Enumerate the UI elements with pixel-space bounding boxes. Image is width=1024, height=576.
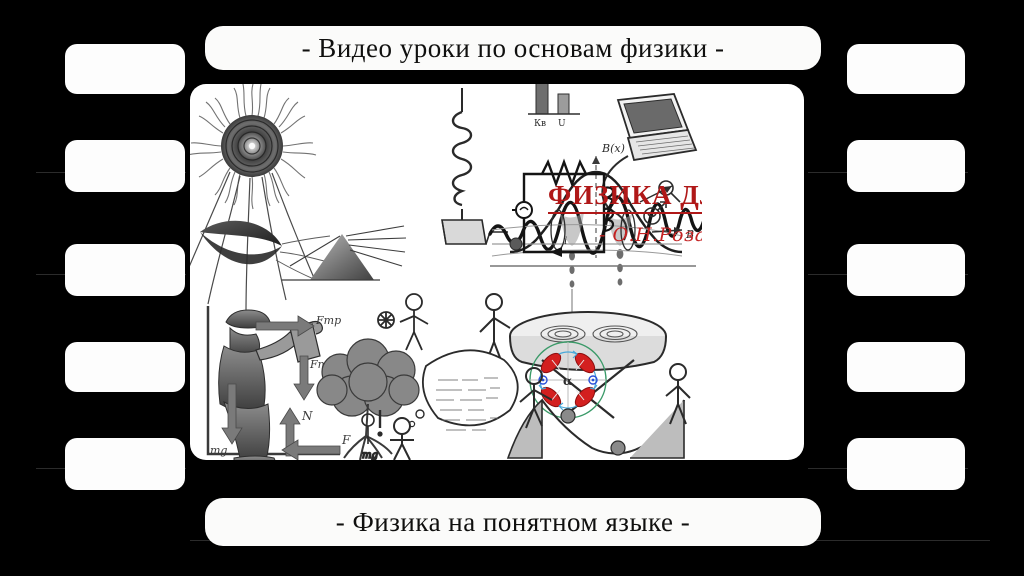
bottom-banner: - Физика на понятном языке - (205, 498, 821, 546)
poster-title: ФИЗИКА ДЛЯ ВСЕХ (548, 180, 702, 214)
label-orbital-center: α (563, 374, 572, 388)
film-sprocket-right-5 (847, 438, 965, 490)
stick-figure-wheel (378, 294, 428, 350)
label-field-function: B(x) (601, 142, 625, 155)
label-force: F (341, 433, 351, 447)
film-sprocket-left-5 (65, 438, 185, 490)
label-normal-force: N (301, 409, 313, 423)
film-sprocket-right-1 (847, 44, 965, 94)
film-sprocket-left-2 (65, 140, 185, 192)
sun-sketch (190, 84, 316, 312)
poster-sketch-svg: Fтр Fт N mg F (190, 84, 702, 460)
label-bar-right: U (558, 119, 566, 129)
stick-figure-thinking (378, 410, 414, 460)
film-sprocket-right-4 (847, 342, 965, 392)
film-sprocket-right-2 (847, 140, 965, 192)
thought-bubble-formulas (409, 350, 517, 430)
prism-sketch (282, 226, 406, 280)
top-banner-text: - Видео уроки по основам физики - (302, 33, 725, 64)
top-banner: - Видео уроки по основам физики - (205, 26, 821, 70)
label-current: i (564, 236, 567, 247)
physics-poster-artwork: Fтр Fт N mg F (190, 84, 702, 460)
film-sprocket-left-3 (65, 244, 185, 296)
poster-panel: Fтр Fт N mg F (190, 84, 804, 460)
film-sprocket-right-3 (847, 244, 965, 296)
label-bar-left: Кв (534, 119, 546, 129)
bottom-banner-text: - Физика на понятном языке - (336, 507, 691, 538)
label-weight: mg (210, 444, 227, 457)
film-sprocket-left-4 (65, 342, 185, 392)
video-thumbnail-stage: - Видео уроки по основам физики - - Физи… (0, 0, 1024, 576)
label-friction-force: Fтр (315, 314, 341, 327)
spring-weight-sketch (442, 88, 508, 244)
poster-author: - О.Н.Розанов - (599, 224, 702, 246)
film-sprocket-left-1 (65, 44, 185, 94)
svg-text:mg: mg (362, 450, 378, 460)
